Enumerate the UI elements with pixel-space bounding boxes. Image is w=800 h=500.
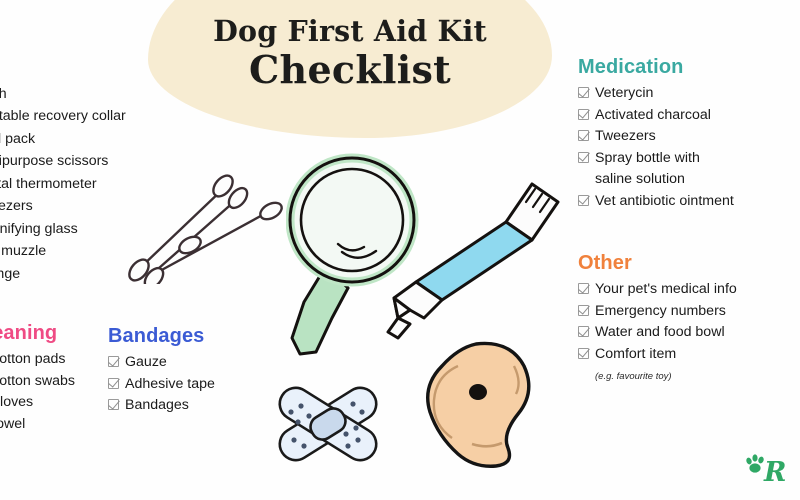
list-item[interactable]: Emergency numbers [578, 301, 793, 323]
list-item[interactable]: Inflatable recovery collar [0, 105, 187, 127]
brand-logo[interactable]: R [742, 448, 786, 488]
logo-letter: R [763, 457, 786, 488]
list-item-label: Cold pack [0, 128, 35, 150]
title-line-2: Checklist [150, 49, 550, 92]
checkbox-icon[interactable] [108, 399, 119, 410]
list-item-label: Cotton pads [0, 349, 66, 371]
other-heading: Other [578, 252, 793, 274]
list-item-label: Tweezers [0, 195, 33, 217]
list-item-label: Water and food bowl [595, 322, 725, 344]
medication-section: Medication Veterycin Activated charcoal … [578, 56, 793, 212]
list-item[interactable]: Towel [0, 414, 122, 436]
bandages-heading: Bandages [108, 325, 258, 347]
checkbox-icon[interactable] [578, 195, 589, 206]
checkbox-icon[interactable] [578, 87, 589, 98]
list-item-label-group: Spray bottle with saline solution [595, 148, 700, 191]
list-item-label: Gloves [0, 392, 33, 414]
list-item-label: Spray bottle with [595, 148, 700, 170]
list-item-label: Towel [0, 414, 25, 436]
list-item[interactable]: Cotton pads [0, 349, 122, 371]
general-supplies-list: Torch Inflatable recovery collar Cold pa… [0, 78, 187, 285]
adhesive-plasters-illustration [268, 368, 388, 480]
list-item[interactable]: Spray bottle with saline solution [578, 148, 793, 191]
checkbox-icon[interactable] [108, 378, 119, 389]
list-item-label: Magnifying glass [0, 218, 78, 240]
list-item[interactable]: Vet antibiotic ointment [578, 191, 793, 213]
checkbox-icon[interactable] [108, 356, 119, 367]
other-section: Other Your pet's medical info Emergency … [578, 252, 793, 387]
cleaning-section: Cleaning Cotton pads Cotton swabs Gloves… [0, 322, 122, 435]
general-supplies-items: Torch Inflatable recovery collar Cold pa… [0, 83, 187, 285]
list-item-label: Inflatable recovery collar [0, 105, 126, 127]
list-item[interactable]: Gauze [108, 352, 258, 374]
list-item-label: Adhesive tape [125, 374, 215, 396]
list-item-label: Multipurpose scissors [0, 150, 108, 172]
list-item-label: Bandages [125, 395, 189, 417]
list-item-label: Soft muzzle [0, 240, 46, 262]
list-item[interactable]: Gloves [0, 392, 122, 414]
list-item-label: Emergency numbers [595, 301, 726, 323]
list-item[interactable]: Adhesive tape [108, 374, 258, 396]
bandages-section: Bandages Gauze Adhesive tape Bandages [108, 325, 258, 417]
list-item-label: Veterycin [595, 83, 653, 105]
list-item-note: (e.g. favourite toy) [595, 371, 672, 382]
list-item-label: Your pet's medical info [595, 279, 737, 301]
list-item-label: Activated charcoal [595, 105, 711, 127]
checkbox-icon[interactable] [578, 305, 589, 316]
list-item[interactable]: Magnifying glass [0, 218, 187, 240]
checkbox-icon[interactable] [578, 326, 589, 337]
list-item[interactable]: Soft muzzle [0, 240, 187, 262]
checkbox-icon[interactable] [578, 109, 589, 120]
paw-print-icon [745, 454, 764, 472]
list-item[interactable]: Cotton swabs [0, 371, 122, 393]
list-item-label: Syringe [0, 263, 20, 285]
title-line-1: Dog First Aid Kit [150, 16, 550, 47]
bandages-items: Gauze Adhesive tape Bandages [108, 352, 258, 417]
list-item-label: Vet antibiotic ointment [595, 191, 734, 213]
list-item-label: Rectal thermometer [0, 173, 97, 195]
list-item-label-continued: saline solution [595, 169, 700, 191]
medication-heading: Medication [578, 56, 793, 78]
list-item[interactable]: Water and food bowl [578, 322, 793, 344]
cleaning-items: Cotton pads Cotton swabs Gloves Towel [0, 349, 122, 435]
checkbox-icon[interactable] [578, 283, 589, 294]
list-item[interactable]: Comfort item (e.g. favourite toy) [578, 344, 793, 387]
list-item[interactable]: Tweezers [578, 126, 793, 148]
checkbox-icon[interactable] [578, 348, 589, 359]
list-item-label: Comfort item [595, 344, 676, 366]
list-item-label: Torch [0, 83, 7, 105]
checkbox-icon[interactable] [578, 130, 589, 141]
list-item[interactable]: Cold pack [0, 128, 187, 150]
list-item[interactable]: Veterycin [578, 83, 793, 105]
list-item[interactable]: Your pet's medical info [578, 279, 793, 301]
other-items: Your pet's medical info Emergency number… [578, 279, 793, 387]
list-item[interactable]: Rectal thermometer [0, 173, 187, 195]
list-item[interactable]: Bandages [108, 395, 258, 417]
list-item[interactable]: Activated charcoal [578, 105, 793, 127]
list-item-label: Tweezers [595, 126, 656, 148]
ointment-tube-illustration [380, 178, 566, 344]
first-aid-checklist-poster: Dog First Aid Kit Checklist [0, 0, 800, 500]
page-title: Dog First Aid Kit Checklist [150, 16, 550, 91]
list-item-label: Cotton swabs [0, 371, 75, 393]
dog-paw-illustration [418, 336, 540, 468]
list-item[interactable]: Multipurpose scissors [0, 150, 187, 172]
checkbox-icon[interactable] [578, 152, 589, 163]
list-item-label-group: Comfort item (e.g. favourite toy) [595, 344, 676, 387]
list-item-label: Gauze [125, 352, 167, 374]
list-item[interactable]: Tweezers [0, 195, 187, 217]
cleaning-heading: Cleaning [0, 322, 122, 344]
medication-items: Veterycin Activated charcoal Tweezers Sp… [578, 83, 793, 212]
list-item[interactable]: Syringe [0, 263, 187, 285]
